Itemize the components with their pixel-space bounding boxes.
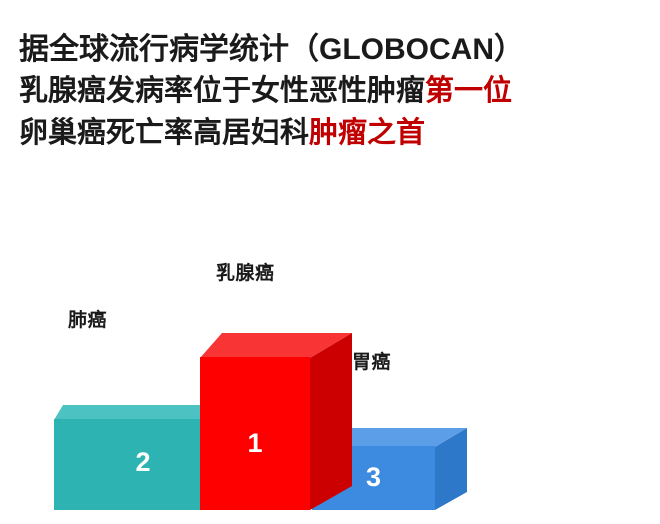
title-line-2-highlight: 第一位	[425, 75, 512, 107]
podium-label-lung: 肺癌	[68, 305, 107, 332]
title-line-3: 卵巢癌死亡率高居妇科肿瘤之首	[19, 112, 649, 154]
podium-block-breast-side-face	[310, 333, 352, 510]
podium-rank-number-breast: 1	[200, 428, 310, 459]
title-line-2-text: 乳腺癌发病率位于女性恶性肿瘤	[19, 75, 425, 107]
title-line-3-text: 卵巢癌死亡率高居妇科	[19, 117, 309, 149]
title-line-3-highlight: 肿瘤之首	[309, 117, 425, 149]
podium-label-breast: 乳腺癌	[216, 258, 275, 285]
podium-ranking-chart: 肺癌 乳腺癌 胃癌 2 3 1	[0, 250, 660, 524]
podium-label-stomach: 胃癌	[352, 347, 391, 374]
title-line-1-text: 据全球流行病学统计（GLOBOCAN）	[19, 33, 524, 66]
podium-block-breast: 1	[200, 333, 352, 510]
slide-title-block: 据全球流行病学统计（GLOBOCAN） 乳腺癌发病率位于女性恶性肿瘤第一位 卵巢…	[19, 30, 649, 154]
title-line-1: 据全球流行病学统计（GLOBOCAN）	[19, 30, 649, 70]
title-line-2: 乳腺癌发病率位于女性恶性肿瘤第一位	[19, 70, 649, 112]
